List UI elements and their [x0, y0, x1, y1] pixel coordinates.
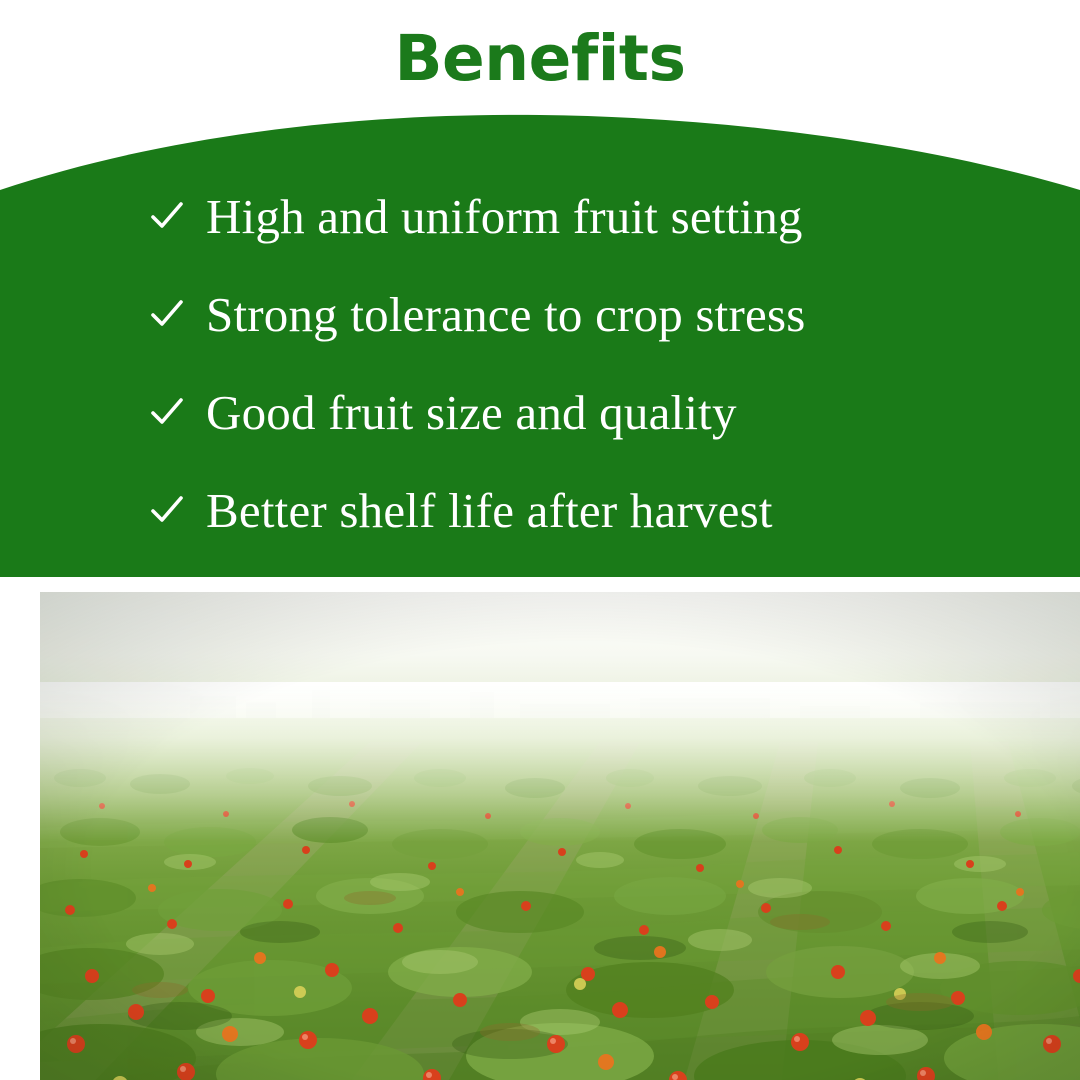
checkmark-icon [150, 395, 184, 429]
benefits-infographic: Benefits High and uniform fruit setting [0, 0, 1080, 1080]
benefit-item-3: Good fruit size and quality [150, 381, 737, 443]
benefit-item-2: Strong tolerance to crop stress [150, 283, 806, 345]
checkmark-icon [150, 199, 184, 233]
benefit-item-1: High and uniform fruit setting [150, 185, 803, 247]
benefit-label: Better shelf life after harvest [206, 486, 773, 535]
benefit-label: Good fruit size and quality [206, 388, 737, 437]
benefits-list: High and uniform fruit setting Strong to… [0, 100, 1080, 577]
benefits-panel: High and uniform fruit setting Strong to… [0, 100, 1080, 577]
benefit-label: Strong tolerance to crop stress [206, 290, 806, 339]
benefit-item-4: Better shelf life after harvest [150, 479, 773, 541]
checkmark-icon [150, 297, 184, 331]
page-title: Benefits [395, 0, 686, 92]
checkmark-icon [150, 493, 184, 527]
tomato-field-photo [40, 592, 1080, 1080]
benefit-label: High and uniform fruit setting [206, 192, 803, 241]
